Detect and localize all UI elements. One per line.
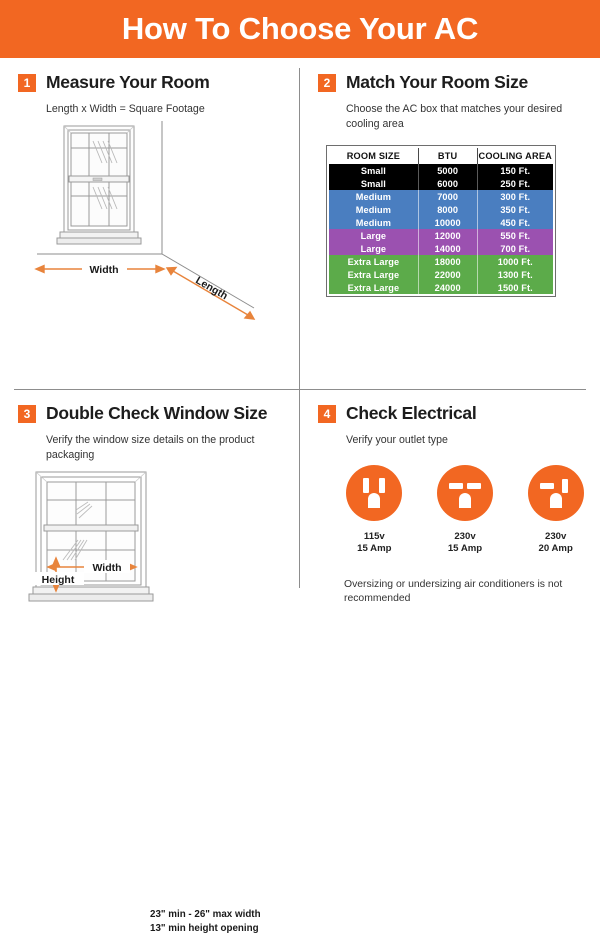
window-width-label: Width <box>92 562 121 574</box>
cell-cooling-area: 350 Ft. <box>477 203 553 216</box>
cell-room-size: Large <box>329 229 418 242</box>
cell-room-size: Medium <box>329 216 418 229</box>
outlet-voltage: 115v <box>344 531 405 544</box>
outlet-types-list: 115v15 Amp230v15 Amp230v20 Amp <box>344 464 586 556</box>
cell-btu: 14000 <box>418 242 477 255</box>
outlet-amperage: 15 Amp <box>435 543 496 556</box>
table-row: Medium10000450 Ft. <box>329 216 553 229</box>
window-height-label: Height <box>42 574 75 586</box>
step-2-number: 2 <box>318 74 336 92</box>
table-row: Extra Large220001300 Ft. <box>329 268 553 281</box>
page-title: How To Choose Your AC <box>122 11 478 47</box>
step-1-subtitle: Length x Width = Square Footage <box>46 102 283 117</box>
window-size-diagram: Width Height <box>22 468 297 613</box>
width-label: Width <box>89 264 118 276</box>
step-3-number: 3 <box>18 405 36 423</box>
cell-btu: 5000 <box>418 164 477 177</box>
cell-room-size: Large <box>329 242 418 255</box>
table-row: Medium8000350 Ft. <box>329 203 553 216</box>
column-header-btu: BTU <box>418 148 477 164</box>
column-header-room-size: ROOM SIZE <box>329 148 418 164</box>
cell-room-size: Extra Large <box>329 268 418 281</box>
outlet-amperage: 20 Amp <box>525 543 586 556</box>
page-header: How To Choose Your AC <box>0 0 600 58</box>
cell-btu: 22000 <box>418 268 477 281</box>
table-row: Large14000700 Ft. <box>329 242 553 255</box>
step-1-measure-your-room: 1 Measure Your Room Length x Width = Squ… <box>0 58 299 389</box>
cell-cooling-area: 700 Ft. <box>477 242 553 255</box>
cell-cooling-area: 1500 Ft. <box>477 281 553 294</box>
cell-cooling-area: 150 Ft. <box>477 164 553 177</box>
window-spec-height: 13" min height opening <box>150 922 261 936</box>
cell-cooling-area: 450 Ft. <box>477 216 553 229</box>
step-3-double-check-window-size: 3 Double Check Window Size Verify the wi… <box>0 390 299 600</box>
ac-sizing-table-body: Small5000150 Ft.Small6000250 Ft.Medium70… <box>329 164 553 294</box>
cell-cooling-area: 250 Ft. <box>477 177 553 190</box>
step-3-subtitle: Verify the window size details on the pr… <box>46 433 283 462</box>
cell-cooling-area: 300 Ft. <box>477 190 553 203</box>
ac-sizing-table: ROOM SIZE BTU COOLING AREA Small5000150 … <box>329 148 553 294</box>
outlet-voltage: 230v <box>525 531 586 544</box>
cell-room-size: Small <box>329 164 418 177</box>
cell-room-size: Small <box>329 177 418 190</box>
step-1-number: 1 <box>18 74 36 92</box>
table-row: Extra Large240001500 Ft. <box>329 281 553 294</box>
cell-btu: 24000 <box>418 281 477 294</box>
cell-room-size: Medium <box>329 203 418 216</box>
window-spec-text: 23" min - 26" max width 13" min height o… <box>150 908 261 936</box>
outlet-voltage: 230v <box>435 531 496 544</box>
infographic-sheet: How To Choose Your AC 1 Measure Your Roo… <box>0 0 600 600</box>
step-4-title: Check Electrical <box>346 403 476 424</box>
cell-cooling-area: 1000 Ft. <box>477 255 553 268</box>
step-4-header: 4 Check Electrical <box>318 403 586 424</box>
cell-btu: 7000 <box>418 190 477 203</box>
table-row: Small5000150 Ft. <box>329 164 553 177</box>
cell-btu: 12000 <box>418 229 477 242</box>
column-header-cooling-area: COOLING AREA <box>477 148 553 164</box>
cell-btu: 6000 <box>418 177 477 190</box>
step-2-header: 2 Match Your Room Size <box>318 72 586 93</box>
cell-room-size: Extra Large <box>329 255 418 268</box>
outlet-caption: 230v20 Amp <box>525 531 586 556</box>
cell-cooling-area: 550 Ft. <box>477 229 553 242</box>
cell-btu: 10000 <box>418 216 477 229</box>
cell-room-size: Extra Large <box>329 281 418 294</box>
step-3-header: 3 Double Check Window Size <box>18 403 283 424</box>
window-illustration <box>57 126 141 244</box>
outlet-item: 230v15 Amp <box>435 464 496 556</box>
length-label: Length <box>193 274 229 302</box>
outlet-amperage: 15 Amp <box>344 543 405 556</box>
cell-btu: 18000 <box>418 255 477 268</box>
step-2-match-your-room-size: 2 Match Your Room Size Choose the AC box… <box>300 58 600 389</box>
step-4-check-electrical: 4 Check Electrical Verify your outlet ty… <box>300 390 600 600</box>
step-4-number: 4 <box>318 405 336 423</box>
outlet-item: 230v20 Amp <box>525 464 586 556</box>
outlet-230v-15amp-icon <box>435 464 496 522</box>
cell-btu: 8000 <box>418 203 477 216</box>
outlet-item: 115v15 Amp <box>344 464 405 556</box>
step-1-title: Measure Your Room <box>46 72 209 93</box>
outlet-230v-20amp-icon <box>525 464 586 522</box>
step-2-title: Match Your Room Size <box>346 72 528 93</box>
room-measurement-diagram: Width Length <box>22 121 297 321</box>
steps-grid: 1 Measure Your Room Length x Width = Squ… <box>0 58 600 600</box>
ac-sizing-table-wrapper: ROOM SIZE BTU COOLING AREA Small5000150 … <box>326 145 556 297</box>
step-3-title: Double Check Window Size <box>46 403 267 424</box>
window-spec-width: 23" min - 26" max width <box>150 908 261 922</box>
outlet-115v-15amp-icon <box>344 464 405 522</box>
step-2-subtitle: Choose the AC box that matches your desi… <box>346 102 586 131</box>
table-row: Medium7000300 Ft. <box>329 190 553 203</box>
sizing-recommendation-note: Oversizing or undersizing air conditione… <box>344 578 579 607</box>
step-1-header: 1 Measure Your Room <box>18 72 283 93</box>
outlet-caption: 230v15 Amp <box>435 531 496 556</box>
table-row: Large12000550 Ft. <box>329 229 553 242</box>
outlet-caption: 115v15 Amp <box>344 531 405 556</box>
table-row: Small6000250 Ft. <box>329 177 553 190</box>
cell-cooling-area: 1300 Ft. <box>477 268 553 281</box>
step-4-subtitle: Verify your outlet type <box>346 433 586 448</box>
table-header-row: ROOM SIZE BTU COOLING AREA <box>329 148 553 164</box>
table-row: Extra Large180001000 Ft. <box>329 255 553 268</box>
cell-room-size: Medium <box>329 190 418 203</box>
